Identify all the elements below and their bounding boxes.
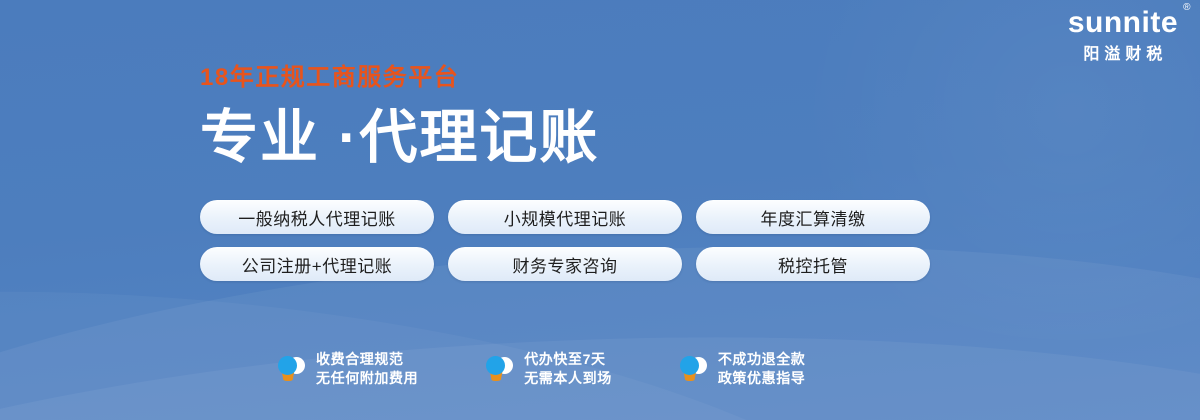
blue-orange-badge-icon: [484, 353, 514, 385]
promo-banner: sunnite® 阳溢财税 18年正规工商服务平台 专业 ·代理记账 一般纳税人…: [0, 0, 1200, 420]
service-pill-general-taxpayer[interactable]: 一般纳税人代理记账: [200, 200, 434, 234]
feature-text-guarantee: 不成功退全款 政策优惠指导: [718, 350, 806, 388]
blue-orange-badge-icon: [276, 353, 306, 385]
feature-line-2: 政策优惠指导: [718, 370, 806, 386]
headline-block: 18年正规工商服务平台 专业 ·代理记账: [200, 66, 599, 169]
registered-trademark-icon: ®: [1183, 3, 1191, 13]
blue-orange-badge-icon: [678, 353, 708, 385]
feature-text-speed: 代办快至7天 无需本人到场: [524, 350, 612, 388]
feature-line-1: 代办快至7天: [524, 351, 605, 367]
service-pill-small-scale[interactable]: 小规模代理记账: [448, 200, 682, 234]
service-pill-grid: 一般纳税人代理记账 小规模代理记账 年度汇算清缴 公司注册+代理记账 财务专家咨…: [200, 200, 930, 281]
feature-item-pricing: 收费合理规范 无任何附加费用: [276, 350, 418, 388]
feature-line-1: 不成功退全款: [718, 351, 806, 367]
service-pill-annual-settlement[interactable]: 年度汇算清缴: [696, 200, 930, 234]
feature-line-1: 收费合理规范: [316, 351, 404, 367]
feature-line-2: 无需本人到场: [524, 370, 612, 386]
service-pill-company-registration[interactable]: 公司注册+代理记账: [200, 247, 434, 281]
service-pill-expert-consulting[interactable]: 财务专家咨询: [448, 247, 682, 281]
feature-line-2: 无任何附加费用: [316, 370, 418, 386]
brand-logo[interactable]: sunnite® 阳溢财税: [1068, 8, 1178, 63]
page-title: 专业 ·代理记账: [200, 108, 599, 169]
feature-item-speed: 代办快至7天 无需本人到场: [484, 350, 612, 388]
brand-logo-wordmark: sunnite®: [1068, 8, 1178, 38]
feature-text-pricing: 收费合理规范 无任何附加费用: [316, 350, 418, 388]
feature-strip: 收费合理规范 无任何附加费用 代办快至7天 无需本人到场 不成功退全款 政策优惠…: [276, 350, 805, 388]
brand-logo-subtitle: 阳溢财税: [1068, 47, 1178, 63]
feature-item-guarantee: 不成功退全款 政策优惠指导: [678, 350, 806, 388]
eyebrow-tagline: 18年正规工商服务平台: [200, 66, 599, 90]
service-pill-tax-control-hosting[interactable]: 税控托管: [696, 247, 930, 281]
